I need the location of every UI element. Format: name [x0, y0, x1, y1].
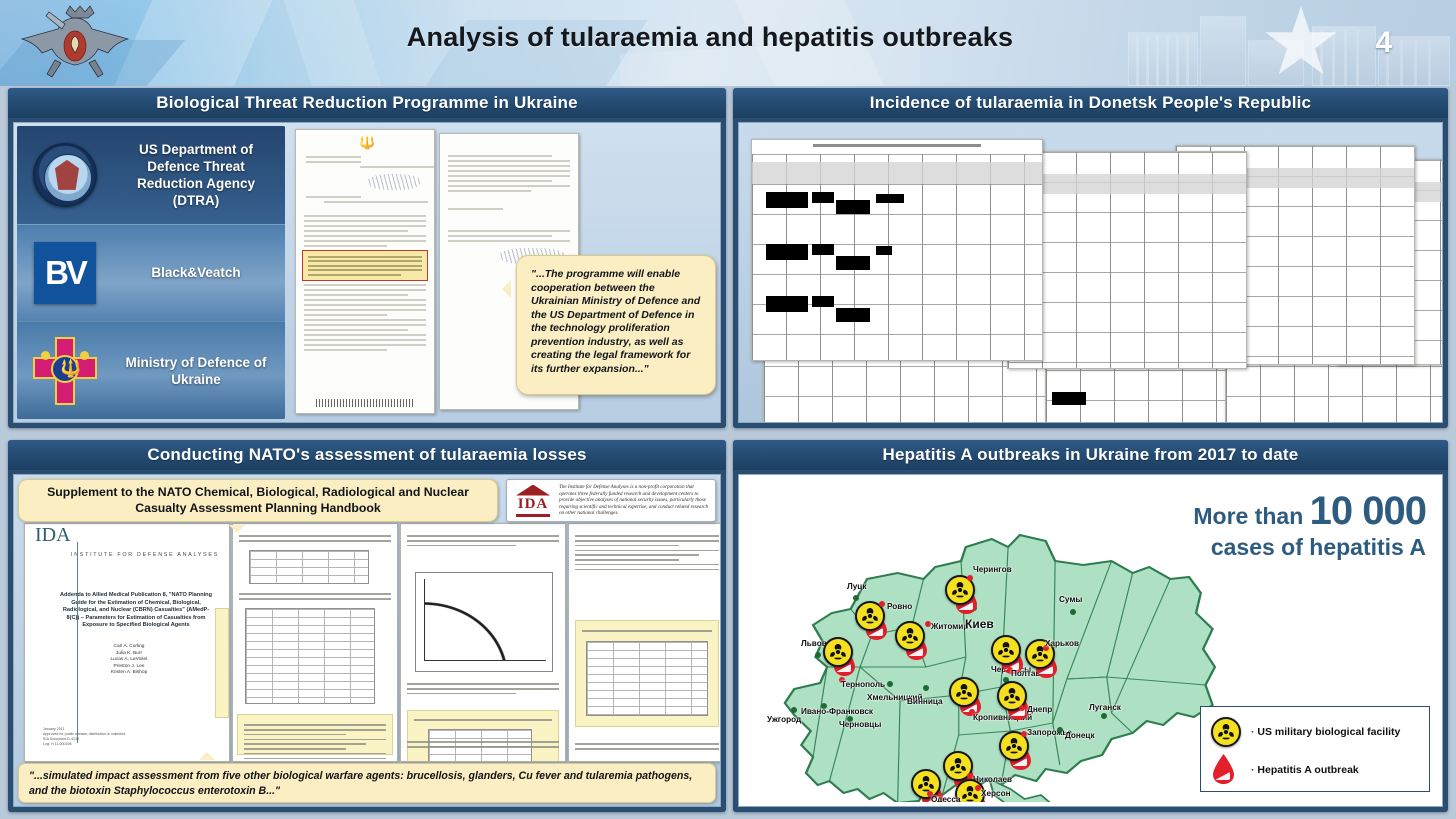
panel-body-nato: Supplement to the NATO Chemical, Biologi…: [13, 474, 721, 807]
org-row-dtra[interactable]: US Department of Defence Threat Reductio…: [17, 126, 285, 224]
bv-monogram: BV: [34, 242, 96, 304]
city-dot: [879, 601, 885, 607]
biohazard-icon: [895, 621, 925, 651]
page-number: 4: [1375, 26, 1392, 60]
city-label: Одесса: [931, 795, 961, 802]
dtra-seal-icon: [17, 143, 113, 207]
city-dot: [791, 707, 797, 713]
legend-label-outbreak: Hepatitis A outbreak: [1251, 764, 1359, 776]
scanned-register-stack[interactable]: [745, 129, 1436, 416]
cover-logo-text: IDA: [35, 524, 229, 547]
city-label: Харьков: [1045, 639, 1079, 648]
russian-mod-eagle-emblem-icon: [10, 2, 140, 84]
scanned-letter-group[interactable]: 🔱: [291, 127, 717, 418]
org-label-ukraine-mod: Ministry of Defence of Ukraine: [113, 354, 285, 388]
city-label: Луганск: [1089, 703, 1121, 712]
panel-biological-threat-reduction: Biological Threat Reduction Programme in…: [8, 88, 726, 428]
cover-title: Addenda to Allied Medical Publication 8,…: [59, 592, 213, 630]
panel-nato-assessment: Conducting NATO's assessment of tularaem…: [8, 440, 726, 812]
panel-title-incidence: Incidence of tularaemia in Donetsk Peopl…: [733, 88, 1448, 118]
city-dot: [967, 575, 973, 581]
city-dot: [815, 652, 821, 658]
panel-tularaemia-incidence: Incidence of tularaemia in Donetsk Peopl…: [733, 88, 1448, 428]
ida-info-box: IDA The Institute for Defense Analyses i…: [506, 479, 716, 522]
city-label: Черингов: [973, 565, 1012, 574]
biohazard-icon: [991, 635, 1021, 665]
slide-header: Analysis of tularaemia and hepatitis out…: [0, 0, 1456, 86]
city-label: Черновцы: [839, 720, 881, 729]
biohazard-icon: [823, 637, 853, 667]
ida-report-cover[interactable]: IDA INSTITUTE FOR DEFENSE ANALYSES Adden…: [24, 523, 230, 762]
org-row-black-and-veatch[interactable]: BV Black&Veatch: [17, 224, 285, 322]
city-dot: [1019, 705, 1025, 711]
outbreak-marker[interactable]: [945, 575, 979, 621]
org-row-ukraine-mod[interactable]: 🔱 Ministry of Defence of Ukraine: [17, 321, 285, 419]
city-label: Винница: [907, 697, 943, 706]
legend-row-outbreak: Hepatitis A outbreak: [1209, 751, 1421, 789]
ukraine-mod-cross-icon: 🔱: [17, 337, 113, 405]
cover-footer: January 2011 Approved for public release…: [43, 727, 126, 747]
panel-hepatitis-map: Hepatitis A outbreaks in Ukraine from 20…: [733, 440, 1448, 812]
ida-logo-text: IDA: [513, 496, 553, 513]
city-label: Ровно: [887, 602, 912, 611]
outbreak-marker[interactable]: [999, 731, 1033, 777]
city-label: Херсон: [981, 789, 1011, 798]
city-label: Житомир: [931, 622, 968, 631]
ukraine-map[interactable]: More than 10 000 cases of hepatitis A: [743, 479, 1438, 802]
nato-bottom-quote: "...simulated impact assessment from fiv…: [18, 763, 716, 803]
ida-description: The Institute for Defense Analyses is a …: [559, 484, 709, 517]
ida-report-page-4[interactable]: [568, 523, 721, 762]
outbreak-marker[interactable]: [895, 621, 929, 667]
cover-authors: Carl A. Curling Julia K. Burr Lucas A. L…: [59, 644, 199, 677]
biohazard-icon: [949, 677, 979, 707]
register-page-1[interactable]: [751, 139, 1043, 361]
outbreak-marker[interactable]: [855, 601, 889, 647]
legend-label-biohazard: US military biological facility: [1251, 726, 1400, 738]
scanned-letter-page-1[interactable]: 🔱: [295, 129, 435, 414]
supplement-banner: Supplement to the NATO Chemical, Biologi…: [18, 479, 498, 522]
city-label: Тернополь: [841, 680, 885, 689]
biohazard-icon: [1209, 714, 1243, 750]
outbreak-marker[interactable]: [997, 681, 1031, 727]
city-label: Ужгород: [767, 715, 801, 724]
org-label-black-and-veatch: Black&Veatch: [113, 264, 285, 281]
ida-report-pages[interactable]: IDA INSTITUTE FOR DEFENSE ANALYSES Adden…: [18, 523, 716, 762]
panel-title-hepatitis: Hepatitis A outbreaks in Ukraine from 20…: [733, 440, 1448, 470]
slide: Analysis of tularaemia and hepatitis out…: [0, 0, 1456, 819]
cover-subtitle: INSTITUTE FOR DEFENSE ANALYSES: [71, 552, 229, 558]
city-dot: [1057, 727, 1063, 733]
panel-body-incidence: [738, 122, 1443, 423]
city-label: Днепр: [1027, 705, 1052, 714]
ida-logo-icon: IDA: [513, 485, 553, 517]
outbreak-marker[interactable]: [823, 637, 857, 683]
city-dot: [923, 685, 929, 691]
page-title: Analysis of tularaemia and hepatitis out…: [300, 22, 1120, 53]
callout-quote-btrp: "...The programme will enable cooperatio…: [516, 255, 716, 395]
stat-number: 10 000: [1310, 489, 1426, 533]
panel-body-hepatitis: More than 10 000 cases of hepatitis A: [738, 474, 1443, 807]
ida-report-page-2[interactable]: [232, 523, 398, 762]
city-label: Ивано-Франковск: [801, 707, 873, 716]
org-label-dtra: US Department of Defence Threat Reductio…: [113, 141, 285, 209]
city-dot: [887, 681, 893, 687]
city-label: Луцк: [847, 582, 866, 591]
blood-drop-icon: [1209, 752, 1243, 788]
panel-title-nato: Conducting NATO's assessment of tularaem…: [8, 440, 726, 470]
city-label: Сумы: [1059, 595, 1082, 604]
city-dot: [1070, 609, 1076, 615]
register-page-2[interactable]: [1007, 151, 1247, 369]
map-legend: US military biological facility Hepatiti…: [1200, 706, 1430, 792]
city-dot: [1101, 713, 1107, 719]
city-label: Донецк: [1065, 731, 1095, 740]
black-and-veatch-logo-icon: BV: [17, 242, 113, 304]
panel-title-btrp: Biological Threat Reduction Programme in…: [8, 88, 726, 118]
highlighted-passage: [302, 250, 428, 281]
panel-body-btrp: US Department of Defence Threat Reductio…: [13, 122, 721, 423]
organisation-list: US Department of Defence Threat Reductio…: [17, 126, 285, 419]
legend-row-biohazard: US military biological facility: [1209, 713, 1421, 751]
ida-report-page-3[interactable]: [400, 523, 566, 762]
